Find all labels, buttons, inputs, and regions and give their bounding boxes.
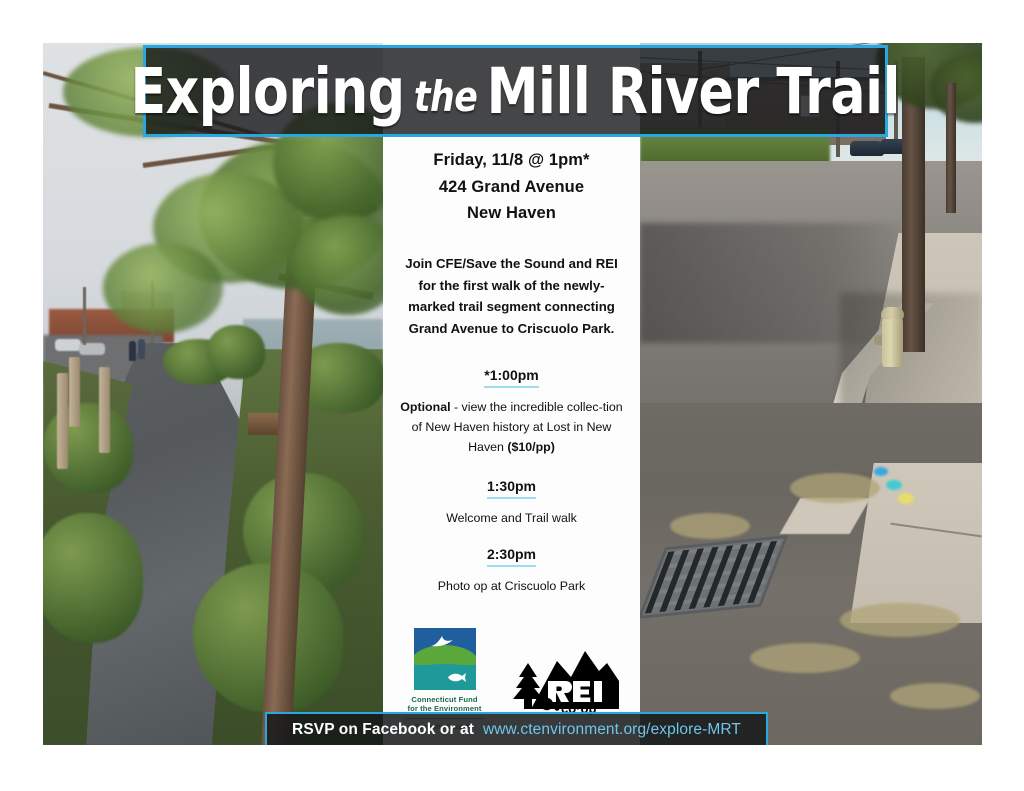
event-date: Friday, 11/8 @ 1pm* — [383, 147, 640, 174]
photo-right-parked-car — [850, 141, 884, 156]
poster-canvas: Friday, 11/8 @ 1pm* 424 Grand Avenue New… — [43, 43, 982, 745]
title-part-1: Exploring — [131, 55, 405, 128]
schedule-desc-3: Photo op at Criscuolo Park — [383, 576, 640, 596]
schedule-item-1: *1:00pm Optional - view the incredible c… — [383, 367, 640, 457]
photo-left-trail-post — [99, 367, 110, 453]
center-content-panel: Friday, 11/8 @ 1pm* 424 Grand Avenue New… — [383, 43, 640, 745]
schedule-list: *1:00pm Optional - view the incredible c… — [383, 367, 640, 595]
rsvp-label: RSVP on Facebook or at — [292, 721, 474, 739]
schedule-desc-2: Welcome and Trail walk — [383, 508, 640, 528]
photo-right-debris — [670, 513, 750, 539]
rsvp-footer-bar[interactable]: RSVP on Facebook or at www.ctenvironment… — [265, 712, 768, 745]
photo-left-trail — [43, 43, 383, 745]
schedule-desc-1-lead: Optional — [400, 400, 450, 414]
photo-left-shrub — [43, 513, 143, 643]
photo-right-tree-trunk — [946, 83, 956, 213]
schedule-item-3: 2:30pm Photo op at Criscuolo Park — [383, 546, 640, 596]
poster-title-bar: ExploringtheMill River Trail — [143, 45, 888, 137]
photo-right-hydrant-cap — [881, 307, 904, 319]
event-details: Friday, 11/8 @ 1pm* 424 Grand Avenue New… — [383, 147, 640, 227]
cfe-name-line1: Connecticut Fund — [399, 695, 491, 705]
title-emphasis-the: the — [405, 72, 487, 121]
photo-left-trail-post — [69, 357, 80, 427]
rei-mountain-tree-icon: co·op — [507, 643, 625, 715]
photo-left-pedestrian — [138, 339, 145, 359]
fish-icon — [447, 672, 467, 683]
photo-right-utility-paint-mark — [886, 480, 902, 490]
photo-right-fire-hydrant — [882, 315, 903, 367]
event-description: Join CFE/Save the Sound and REI for the … — [383, 253, 640, 339]
photo-right-debris — [840, 603, 960, 637]
photo-left-utility-pole — [83, 287, 86, 345]
photo-left-pedestrian — [129, 341, 136, 361]
photo-left-shrub — [207, 325, 265, 379]
schedule-time-3: 2:30pm — [487, 546, 536, 567]
photo-right-utility-paint-mark — [874, 467, 888, 476]
schedule-time-2: 1:30pm — [487, 478, 536, 499]
photo-right-debris — [890, 683, 980, 709]
bird-icon — [430, 635, 454, 648]
photo-right-grate-pattern — [645, 541, 782, 614]
cfe-logo-mark-icon — [414, 628, 476, 690]
photo-left-car — [55, 339, 81, 351]
event-city: New Haven — [383, 200, 640, 227]
poster-title: ExploringtheMill River Trail — [131, 60, 900, 123]
schedule-item-2: 1:30pm Welcome and Trail walk — [383, 478, 640, 528]
photo-right-street — [640, 43, 982, 745]
photo-right-debris — [750, 643, 860, 673]
photo-left-trail-post — [57, 373, 68, 469]
title-part-2: Mill River Trail — [487, 55, 900, 128]
schedule-desc-1-price: ($10/pp) — [507, 440, 555, 454]
photo-right-utility-paint-mark — [898, 493, 914, 504]
event-address: 424 Grand Avenue — [383, 174, 640, 201]
schedule-time-1: *1:00pm — [484, 367, 538, 388]
schedule-desc-1: Optional - view the incredible collec-ti… — [383, 397, 640, 457]
rsvp-url-link[interactable]: www.ctenvironment.org/explore-MRT — [483, 721, 741, 739]
rei-logo: co·op — [507, 643, 625, 715]
photo-right-debris — [790, 473, 880, 503]
photo-left-canopy — [103, 243, 223, 333]
